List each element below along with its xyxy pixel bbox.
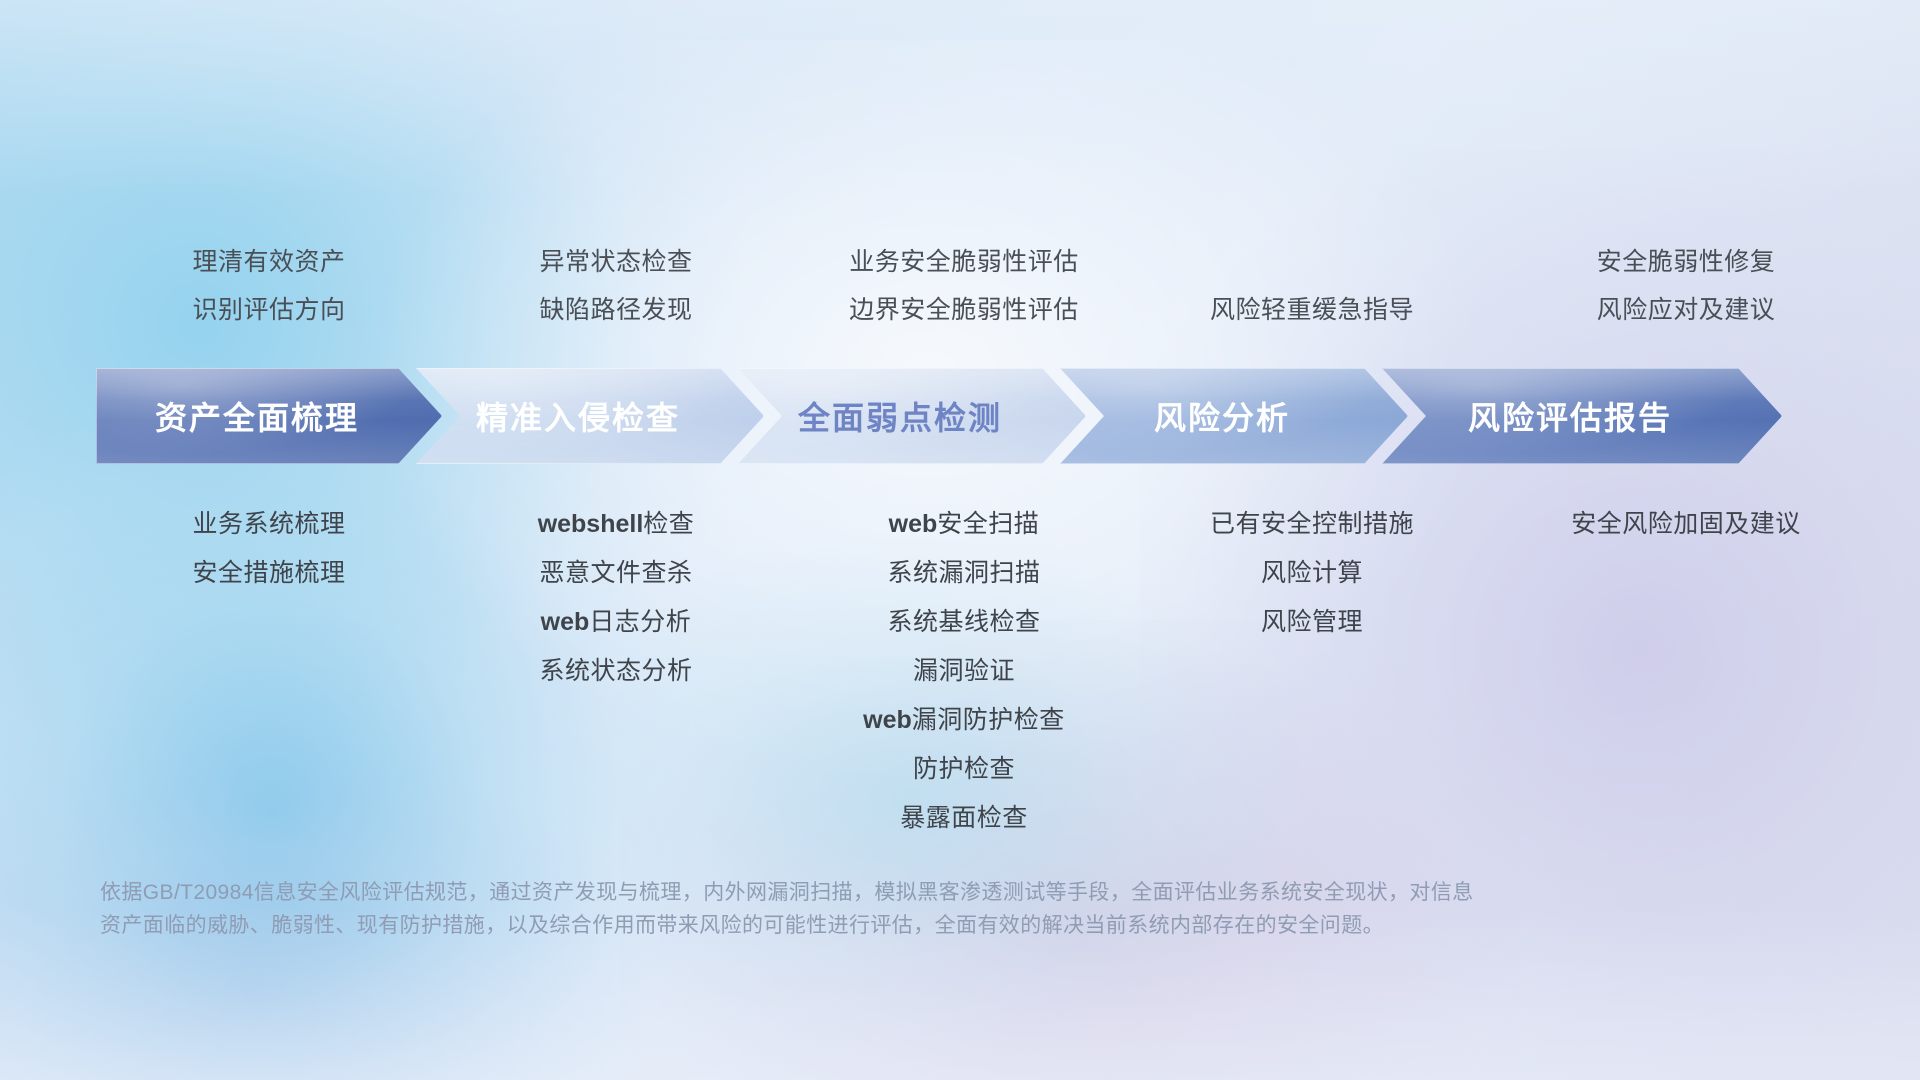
footer-line: 资产面临的威胁、脆弱性、现有防护措施，以及综合作用而带来风险的可能性进行评估，全… bbox=[100, 909, 1700, 942]
chevron-stage-risk-report[interactable]: 风险评估报告 bbox=[1382, 368, 1782, 464]
chevron-label: 精准入侵检查 bbox=[476, 393, 680, 439]
activity-item: web安全扫描 bbox=[889, 500, 1040, 549]
chevron-stage-weakness-detection[interactable]: 全面弱点检测 bbox=[738, 368, 1086, 464]
activity-item: 漏洞验证 bbox=[913, 647, 1015, 696]
activity-cjk: 系统状态分析 bbox=[539, 657, 692, 685]
outcome-item: 业务安全脆弱性评估 bbox=[849, 238, 1079, 286]
stage-outcomes-row: 理清有效资产 识别评估方向 异常状态检查 缺陷路径发现 业务安全脆弱性评估 边界… bbox=[96, 238, 1900, 334]
chevron-stage-intrusion-check[interactable]: 精准入侵检查 bbox=[416, 368, 764, 464]
process-chevron-band: 资产全面梳理 精准入侵检查 全面弱点检测 风险分析 风险评估报告 bbox=[96, 368, 1900, 464]
outcome-item: 理清有效资产 bbox=[192, 238, 345, 286]
activity-item: 系统漏洞扫描 bbox=[887, 549, 1040, 598]
activity-item: web漏洞防护检查 bbox=[863, 696, 1065, 745]
activity-item: 安全风险加固及建议 bbox=[1571, 500, 1801, 549]
activity-latin: web bbox=[889, 510, 938, 538]
activity-item: 安全措施梳理 bbox=[192, 549, 345, 598]
activity-item: web日志分析 bbox=[541, 598, 692, 647]
footer-line: 依据GB/T20984信息安全风险评估规范，通过资产发现与梳理，内外网漏洞扫描，… bbox=[100, 876, 1700, 909]
activity-item: 系统状态分析 bbox=[539, 647, 692, 696]
stage-activities-risk-report: 安全风险加固及建议 bbox=[1486, 500, 1886, 843]
chevron-stage-risk-analysis[interactable]: 风险分析 bbox=[1060, 368, 1408, 464]
stage-activities-weakness-detection: web安全扫描 系统漏洞扫描 系统基线检查 漏洞验证 web漏洞防护检查 防护检… bbox=[790, 500, 1138, 843]
activity-item: 系统基线检查 bbox=[887, 598, 1040, 647]
outcome-item: 边界安全脆弱性评估 bbox=[849, 286, 1079, 334]
activity-cjk: 漏洞验证 bbox=[913, 657, 1015, 685]
activity-latin: web bbox=[541, 608, 590, 636]
activity-latin: web bbox=[863, 706, 912, 734]
stage-activities-row: 业务系统梳理 安全措施梳理 webshell检查 恶意文件查杀 web日志分析 … bbox=[96, 500, 1900, 843]
activity-latin: webshell bbox=[538, 510, 644, 538]
activity-cjk: 安全扫描 bbox=[937, 510, 1039, 538]
stage-activities-intrusion-check: webshell检查 恶意文件查杀 web日志分析 系统状态分析 bbox=[442, 500, 790, 843]
activity-cjk: 暴露面检查 bbox=[900, 804, 1028, 832]
chevron-label: 全面弱点检测 bbox=[798, 393, 1002, 439]
chevron-label: 风险评估报告 bbox=[1468, 393, 1672, 439]
outcome-item: 异常状态检查 bbox=[539, 238, 692, 286]
activity-cjk: 系统漏洞扫描 bbox=[887, 559, 1040, 587]
diagram-content: 理清有效资产 识别评估方向 异常状态检查 缺陷路径发现 业务安全脆弱性评估 边界… bbox=[0, 0, 1920, 1080]
activity-item: 业务系统梳理 bbox=[192, 500, 345, 549]
slide-canvas: 理清有效资产 识别评估方向 异常状态检查 缺陷路径发现 业务安全脆弱性评估 边界… bbox=[0, 0, 1920, 1080]
activity-cjk: 恶意文件查杀 bbox=[539, 559, 692, 587]
activity-item: 恶意文件查杀 bbox=[539, 549, 692, 598]
activity-cjk: 日志分析 bbox=[589, 608, 691, 636]
outcome-item: 风险轻重缓急指导 bbox=[1210, 286, 1414, 334]
outcome-item: 缺陷路径发现 bbox=[539, 286, 692, 334]
activity-cjk: 漏洞防护检查 bbox=[912, 706, 1065, 734]
stage-activities-risk-analysis: 已有安全控制措施 风险计算 风险管理 bbox=[1138, 500, 1486, 843]
stage-outcomes-asset-inventory: 理清有效资产 识别评估方向 bbox=[96, 238, 442, 334]
chevron-label: 资产全面梳理 bbox=[155, 393, 359, 439]
outcome-item: 识别评估方向 bbox=[192, 286, 345, 334]
footer-description: 依据GB/T20984信息安全风险评估规范，通过资产发现与梳理，内外网漏洞扫描，… bbox=[100, 876, 1700, 942]
activity-cjk: 防护检查 bbox=[913, 755, 1015, 783]
activity-item: 暴露面检查 bbox=[900, 794, 1028, 843]
stage-outcomes-risk-report: 安全脆弱性修复 风险应对及建议 bbox=[1486, 238, 1886, 334]
activity-item: 防护检查 bbox=[913, 745, 1015, 794]
stage-outcomes-intrusion-check: 异常状态检查 缺陷路径发现 bbox=[442, 238, 790, 334]
stage-outcomes-risk-analysis: 风险轻重缓急指导 bbox=[1138, 238, 1486, 334]
outcome-item: 风险应对及建议 bbox=[1597, 286, 1776, 334]
activity-cjk: 检查 bbox=[643, 510, 694, 538]
stage-outcomes-weakness-detection: 业务安全脆弱性评估 边界安全脆弱性评估 bbox=[790, 238, 1138, 334]
activity-item: 已有安全控制措施 bbox=[1210, 500, 1414, 549]
activity-item: 风险管理 bbox=[1261, 598, 1363, 647]
stage-activities-asset-inventory: 业务系统梳理 安全措施梳理 bbox=[96, 500, 442, 843]
outcome-item: 安全脆弱性修复 bbox=[1597, 238, 1776, 286]
activity-item: webshell检查 bbox=[538, 500, 695, 549]
chevron-stage-asset-inventory[interactable]: 资产全面梳理 bbox=[96, 368, 442, 464]
chevron-label: 风险分析 bbox=[1154, 393, 1290, 439]
activity-item: 风险计算 bbox=[1261, 549, 1363, 598]
activity-cjk: 系统基线检查 bbox=[887, 608, 1040, 636]
